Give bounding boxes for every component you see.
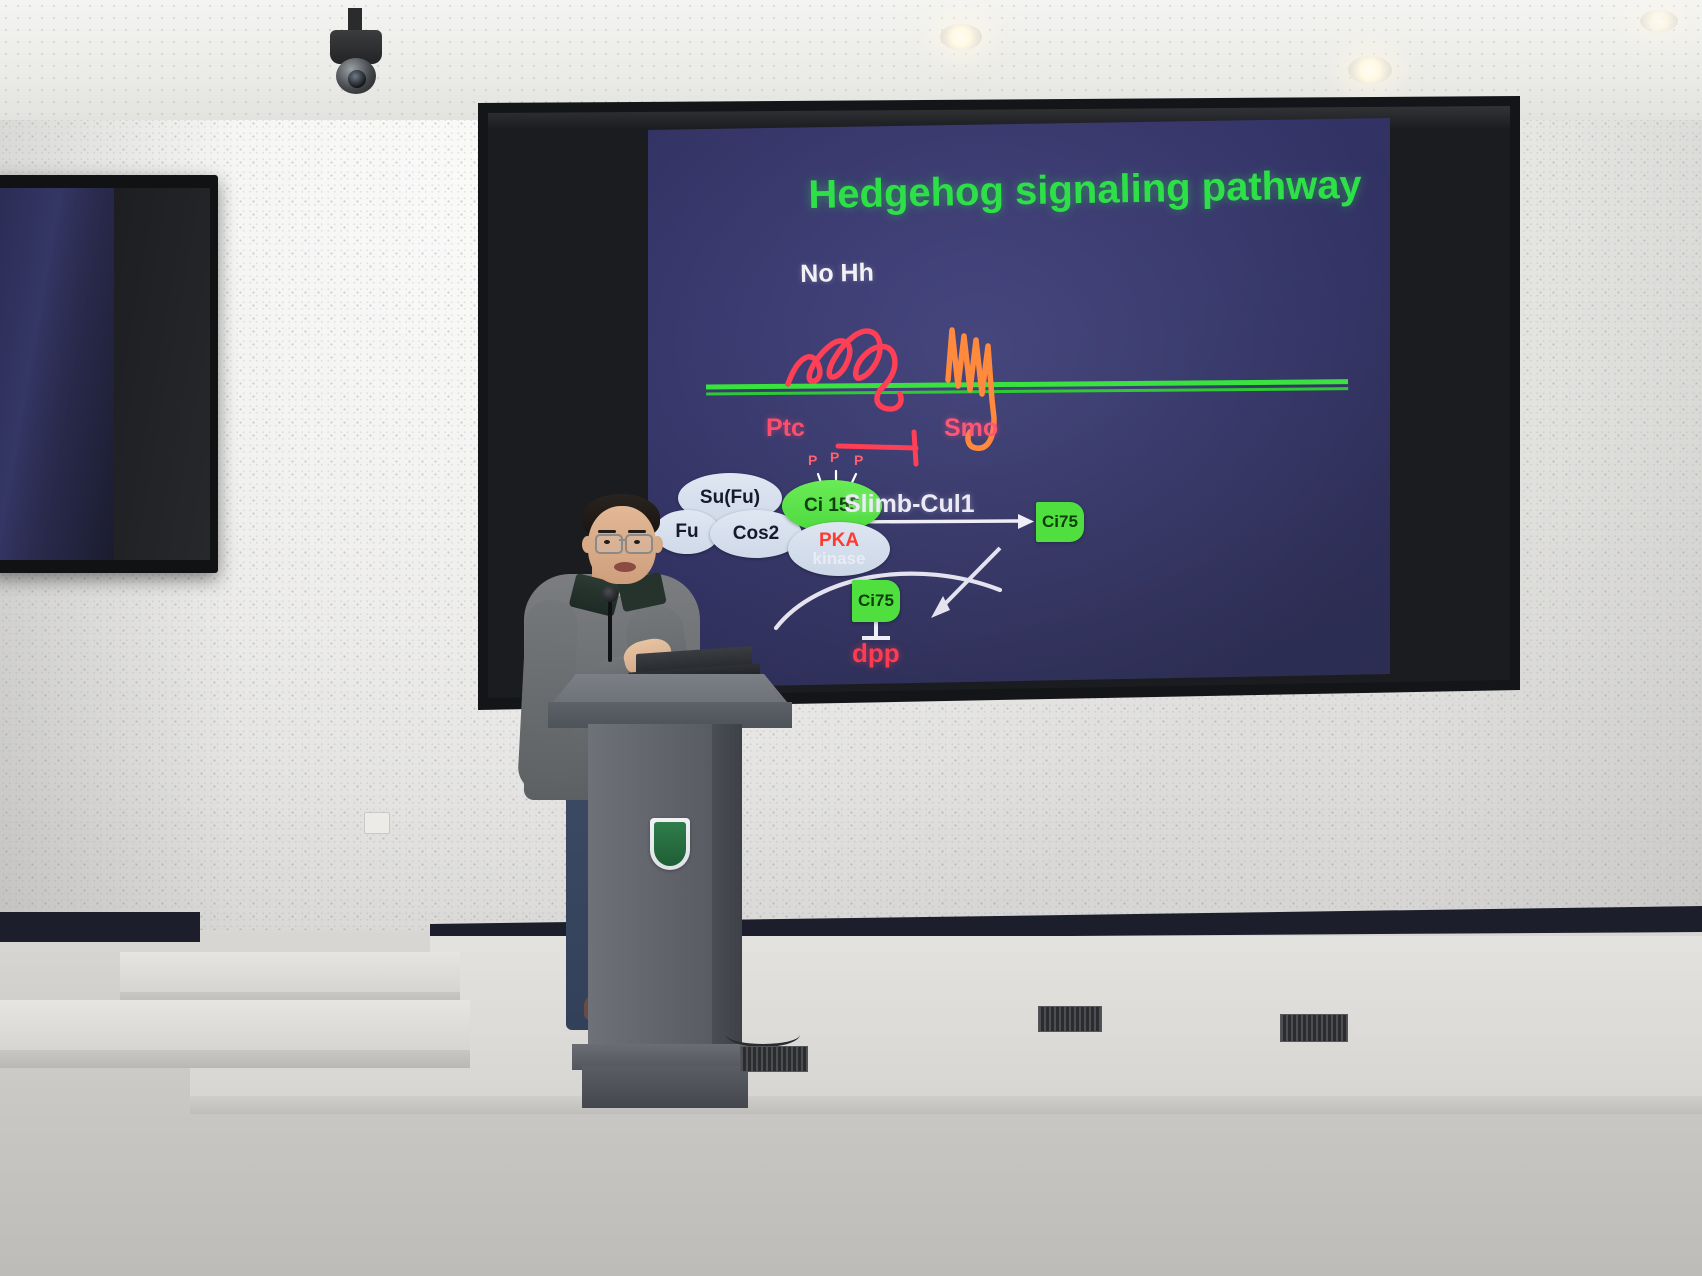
ceiling-light-1 bbox=[940, 24, 982, 50]
membrane-diagram bbox=[648, 118, 1390, 688]
speaker-eye-left bbox=[604, 540, 610, 544]
speaker-glasses-bridge bbox=[619, 539, 625, 543]
speaker-mouth bbox=[614, 562, 636, 572]
pka-label: PKA bbox=[819, 531, 859, 550]
ceiling-light-3 bbox=[1640, 10, 1678, 32]
pka-kinase-oval: PKA kinase bbox=[788, 522, 890, 576]
speaker-glasses-left bbox=[595, 534, 623, 554]
ci75-label: Ci75 bbox=[1042, 512, 1078, 532]
side-monitor-screen-dark bbox=[114, 188, 210, 560]
ci75-nuclear-label: Ci75 bbox=[858, 591, 894, 611]
stage-step-upper bbox=[120, 952, 460, 996]
podium-body-side bbox=[712, 724, 742, 1048]
ceiling-light-2 bbox=[1348, 56, 1392, 84]
microphone-head bbox=[602, 586, 618, 602]
floor-vent-2 bbox=[1280, 1014, 1348, 1042]
phospho-mark-2: P bbox=[830, 449, 839, 465]
ptc-label: Ptc bbox=[766, 414, 805, 443]
speaker-ear-right bbox=[652, 536, 663, 553]
floor-plate-podium bbox=[740, 1046, 808, 1072]
phospho-mark-1: P bbox=[808, 452, 817, 468]
smo-label: Smo bbox=[944, 414, 998, 443]
side-monitor-screen bbox=[0, 188, 114, 560]
podium-cable bbox=[726, 1022, 800, 1047]
podium-crest-inner bbox=[654, 822, 686, 866]
slimb-cul1-label: Slimb-Cul1 bbox=[844, 490, 975, 519]
sufu-label: Su(Fu) bbox=[700, 487, 760, 509]
camera-lens-icon bbox=[348, 70, 366, 88]
dpp-label: dpp bbox=[852, 638, 900, 669]
ci75-product-box: Ci75 bbox=[1036, 502, 1084, 542]
floor-vent-1 bbox=[1038, 1006, 1102, 1032]
podium-base-lower bbox=[582, 1066, 748, 1108]
wall-outlet bbox=[364, 812, 390, 834]
kinase-label: kinase bbox=[813, 550, 866, 567]
cos2-label: Cos2 bbox=[733, 523, 779, 545]
slide-canvas: Hedgehog signaling pathway No Hh bbox=[648, 118, 1390, 688]
speaker-brow-right bbox=[628, 530, 646, 533]
phospho-mark-3: P bbox=[854, 452, 863, 468]
stage-step-lower bbox=[0, 1000, 470, 1056]
microphone-stem bbox=[608, 596, 612, 662]
speaker-brow-left bbox=[598, 530, 616, 533]
lecture-hall-photo: Hedgehog signaling pathway No Hh bbox=[0, 0, 1702, 1276]
ci75-nuclear-box: Ci75 bbox=[852, 580, 900, 622]
speaker-ear-left bbox=[582, 536, 593, 553]
speaker-glasses-right bbox=[625, 534, 653, 554]
fu-label: Fu bbox=[675, 521, 698, 543]
stage-step-lower-riser bbox=[0, 1050, 470, 1068]
stage-platform-edge bbox=[190, 1096, 1702, 1114]
speaker-eye-right bbox=[634, 540, 640, 544]
baseboard-left bbox=[0, 912, 200, 942]
